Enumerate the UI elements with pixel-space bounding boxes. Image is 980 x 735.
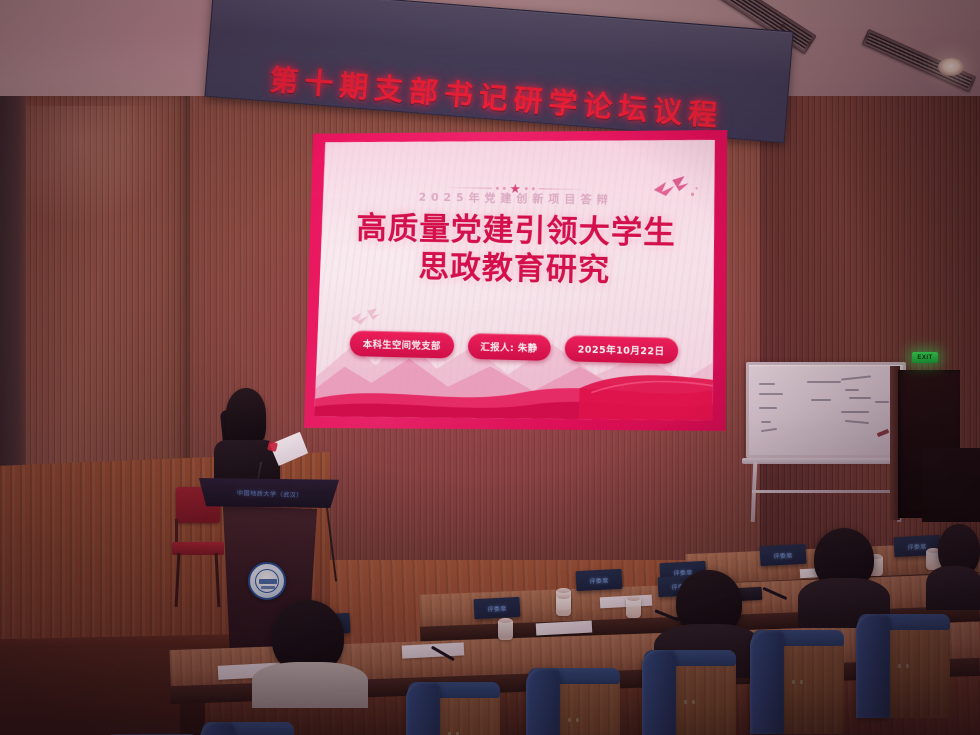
- presenter-hair: [226, 388, 266, 448]
- placard-label: 评委席: [589, 575, 609, 585]
- wall-cabinet: [922, 448, 980, 522]
- placard-label: 评委席: [907, 541, 927, 551]
- wall-highlight: [20, 106, 170, 226]
- auditorium-chair[interactable]: [106, 716, 198, 735]
- audience-person-shoulders: [252, 662, 368, 708]
- ceiling-fixture-dot: [780, 24, 785, 28]
- exit-sign-icon: EXIT: [912, 352, 938, 363]
- ceiling-downlight-icon: [938, 58, 964, 76]
- slide-title-line1: 高质量党建引领大学生: [318, 211, 717, 253]
- slide-badge-presenter: 汇报人: 朱静: [467, 333, 551, 361]
- whiteboard-marker-icon: [877, 429, 890, 437]
- water-cup: [556, 596, 571, 616]
- name-placard: 评委席: [760, 544, 807, 566]
- whiteboard[interactable]: [740, 362, 912, 524]
- auditorium-chair[interactable]: [858, 596, 950, 718]
- placard-label: 评委席: [487, 603, 507, 613]
- auditorium-scene: 第十期支部书记研学论坛议程: [0, 0, 980, 735]
- auditorium-chair[interactable]: [528, 650, 620, 735]
- whiteboard-stand: [740, 462, 912, 524]
- led-screen[interactable]: ★ 2025年党建创新项目答辩 高质量党建引领大学生 思政教育研究 本科生空间党…: [302, 126, 731, 440]
- auditorium-chair[interactable]: [202, 704, 294, 735]
- slide-title: 高质量党建引领大学生 思政教育研究: [317, 211, 717, 292]
- auditorium-chair[interactable]: [408, 664, 500, 735]
- exit-sign-label: EXIT: [912, 352, 938, 363]
- name-placard: 评委席: [474, 597, 521, 619]
- slide-badge-date: 2025年10月22日: [564, 335, 678, 364]
- water-cup: [626, 598, 641, 618]
- water-cup: [498, 620, 513, 640]
- whiteboard-surface: [746, 362, 906, 458]
- placard-label: 评委席: [773, 550, 793, 560]
- presentation-slide: ★ 2025年党建创新项目答辩 高质量党建引领大学生 思政教育研究 本科生空间党…: [314, 136, 718, 428]
- slide-badge-organization: 本科生空间党支部: [350, 330, 454, 358]
- name-placard: 评委席: [576, 569, 623, 591]
- auditorium-chair[interactable]: [644, 632, 736, 735]
- auditorium-chair[interactable]: [752, 612, 844, 734]
